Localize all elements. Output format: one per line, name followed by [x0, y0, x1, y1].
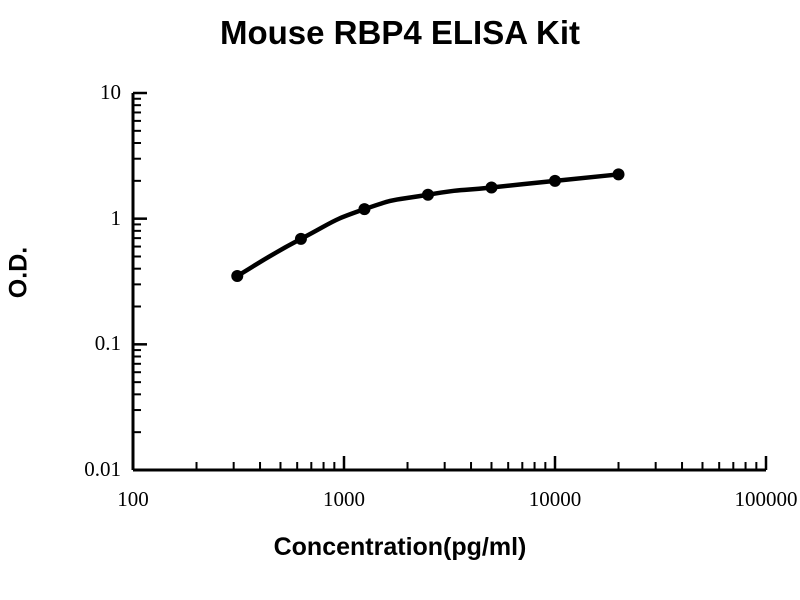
x-tick-label: 100	[63, 487, 203, 512]
data-point	[613, 168, 625, 180]
data-point	[295, 233, 307, 245]
data-point	[358, 203, 370, 215]
y-tick-label: 1	[1, 206, 121, 231]
x-tick-label: 1000	[274, 487, 414, 512]
x-axis-ticks	[133, 456, 766, 470]
y-tick-label: 10	[1, 80, 121, 105]
data-point	[422, 189, 434, 201]
x-tick-label: 10000	[485, 487, 625, 512]
chart-figure: Mouse RBP4 ELISA Kit O.D. Concentration(…	[0, 0, 800, 600]
x-tick-label: 100000	[696, 487, 800, 512]
axis-frame	[133, 93, 766, 470]
y-tick-label: 0.1	[1, 331, 121, 356]
data-point	[549, 175, 561, 187]
y-tick-label: 0.01	[1, 457, 121, 482]
data-series-markers	[231, 168, 624, 282]
y-axis-ticks	[133, 93, 147, 470]
data-point	[485, 182, 497, 194]
data-point	[231, 270, 243, 282]
